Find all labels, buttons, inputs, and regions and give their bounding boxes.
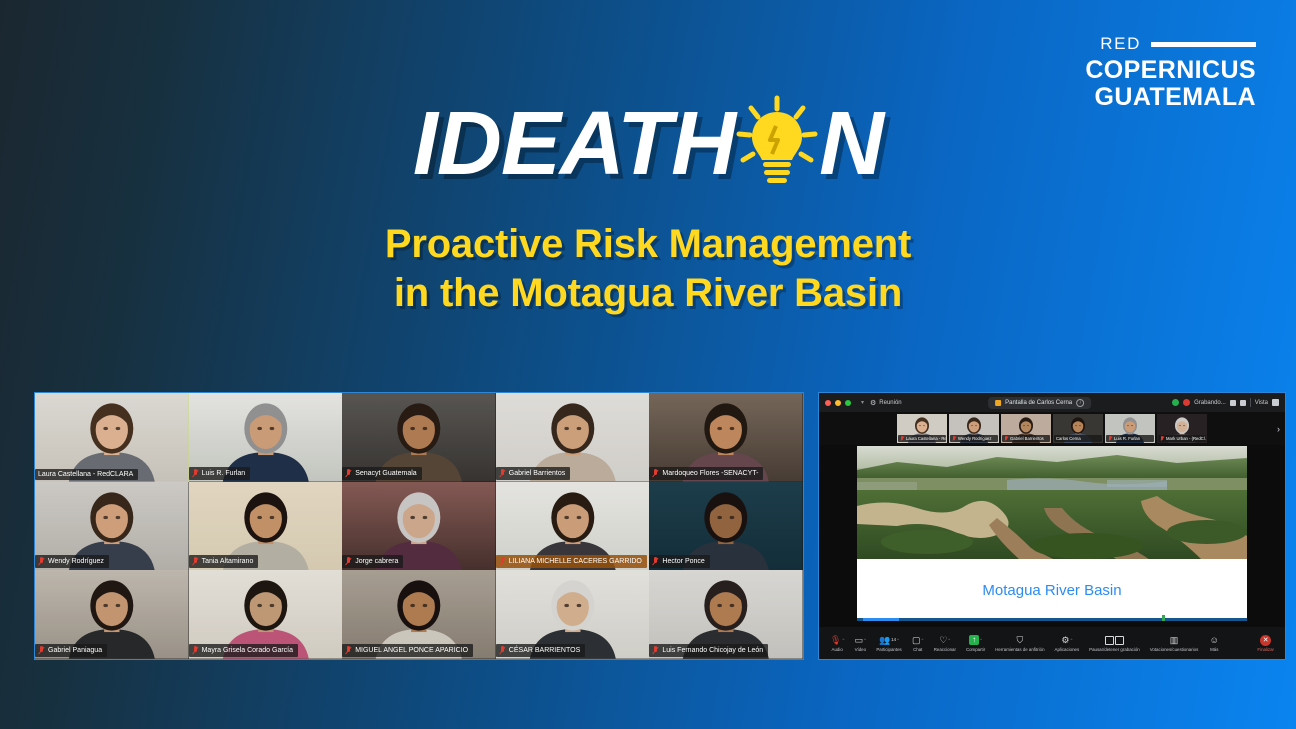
participants-icon: 👥14^ (879, 635, 899, 646)
aerial-river-basin-photo (857, 446, 1247, 559)
polls-icon: ▥ (1170, 635, 1179, 646)
zoom-meeting-window: ▾ ⚙ Reunión Pantalla de Carlos Cerna i G… (818, 392, 1286, 660)
toolbar-button-pausar-detener-grabaci-n[interactable]: Pausar/detener grabación (1084, 635, 1145, 652)
brand-rule (1151, 42, 1256, 47)
chevron-up-icon[interactable]: ^ (922, 638, 924, 642)
video-tile[interactable]: Gabriel Barrientos (496, 393, 650, 482)
page-subtitle-line-2: in the Motagua River Basin (0, 269, 1296, 318)
filmstrip-name-badge: Wendy Rodríguez (950, 435, 998, 442)
video-tile[interactable]: Luis R. Furlan (189, 393, 343, 482)
participant-name-badge: Hector Ponce (649, 555, 709, 568)
participant-filmstrip[interactable]: Laura Castellana - Re...Wendy RodríguezG… (819, 412, 1285, 445)
filmstrip-participant-name: Wendy Rodríguez (958, 436, 991, 441)
filmstrip-tile[interactable]: Carlos Cerna (1053, 414, 1103, 443)
participant-name: Luis R. Furlan (202, 470, 246, 477)
microphone-muted-icon (192, 646, 199, 655)
recording-label: Grabando... (1194, 400, 1226, 406)
participant-name: Tania Altamirano (202, 558, 254, 565)
microphone-muted-icon (900, 436, 904, 441)
page-title-after: N (819, 99, 883, 189)
shared-slide: Motagua River Basin (857, 446, 1247, 621)
toolbar-button-chat[interactable]: ▢^Chat (907, 635, 929, 652)
titlebar-right-group: Grabando... Vista (1172, 398, 1279, 407)
toolbar-button-reaccionar[interactable]: ♡^Reaccionar (929, 635, 961, 652)
chevron-up-icon[interactable]: ^ (864, 638, 866, 642)
page-subtitle: Proactive Risk Management in the Motagua… (0, 220, 1296, 318)
shared-screen-area: Motagua River Basin (819, 445, 1285, 627)
maximize-icon[interactable] (845, 400, 851, 406)
microphone-muted-icon (499, 557, 506, 566)
participant-name: Mayra Grisela Corado García (202, 647, 293, 654)
participant-name: CÉSAR BARRIENTOS (509, 647, 580, 654)
participant-name-badge: LILIANA MICHELLE CACERES GARRIDO (496, 555, 647, 568)
end-meeting-button[interactable]: ✕Finalizar (1252, 635, 1279, 652)
microphone-muted-icon (652, 646, 659, 655)
participant-name-badge: Gabriel Paniagua (35, 644, 107, 657)
toolbar-button-label: Pausar/detener grabación (1089, 647, 1140, 652)
minimize-icon[interactable] (835, 400, 841, 406)
participant-name: Wendy Rodríguez (48, 558, 104, 565)
microphone-muted-icon (652, 469, 659, 478)
filmstrip-participant-name: Carlos Cerna (1056, 436, 1081, 441)
video-tile[interactable]: Senacyt Guatemala (342, 393, 496, 482)
chevron-down-icon[interactable]: ▾ (861, 399, 864, 406)
chevron-up-icon[interactable]: ^ (980, 638, 982, 642)
participant-name: Laura Castellana - RedCLARA (38, 471, 133, 478)
filmstrip-tile[interactable]: Wendy Rodríguez (949, 414, 999, 443)
participant-name-badge: MIGUEL ANGEL PONCE APARICIO (342, 644, 473, 657)
camera-icon: ▭^ (855, 635, 866, 646)
microphone-muted-icon (38, 646, 45, 655)
slide-marker (1162, 615, 1165, 621)
share-tab-label: Pantalla de Carlos Cerna (1005, 400, 1072, 406)
video-tile[interactable]: Wendy Rodríguez (35, 482, 189, 571)
toolbar-button-m-s[interactable]: ☺Más (1203, 635, 1225, 652)
screen-share-icon (995, 400, 1001, 406)
microphone-muted-icon (1160, 436, 1164, 441)
filmstrip-participant-name: Gabriel Barrientos (1010, 436, 1044, 441)
participant-name-badge: CÉSAR BARRIENTOS (496, 644, 585, 657)
microphone-muted-icon (345, 646, 352, 655)
toolbar-button-label: Audio (832, 647, 843, 652)
toolbar-button-label: Vídeo (855, 647, 866, 652)
video-tile[interactable]: Mayra Grisela Corado García (189, 570, 343, 659)
toolbar-button-herramientas-de-anfitri-n[interactable]: ⛉Herramientas de anfitrión (990, 635, 1049, 652)
filmstrip-tile[interactable]: Luis R. Furlan (1105, 414, 1155, 443)
filmstrip-name-badge: Carlos Cerna (1054, 435, 1102, 442)
participant-name: LILIANA MICHELLE CACERES GARRIDO (509, 558, 642, 565)
app-title: Reunión (879, 400, 901, 406)
chevron-right-icon[interactable]: › (1277, 424, 1280, 434)
view-label: Vista (1255, 400, 1268, 406)
toolbar-button-label: Más (1210, 647, 1218, 652)
microphone-muted-icon (1108, 436, 1112, 441)
video-tile[interactable]: MIGUEL ANGEL PONCE APARICIO (342, 570, 496, 659)
participant-name: Mardoqueo Flores -SENACYT- (662, 470, 758, 477)
video-tile[interactable]: LILIANA MICHELLE CACERES GARRIDO (496, 482, 650, 571)
participant-name-badge: Tania Altamirano (189, 555, 259, 568)
info-icon[interactable]: i (1076, 399, 1084, 407)
end-meeting-label: Finalizar (1257, 647, 1274, 652)
microphone-muted-icon (1004, 436, 1008, 441)
video-tile[interactable]: Mardoqueo Flores -SENACYT- (649, 393, 803, 482)
page-subtitle-line-1: Proactive Risk Management (0, 220, 1296, 269)
participant-name: Jorge cabrera (355, 558, 398, 565)
host-tools-shield-icon: ⛉ (1016, 635, 1023, 646)
toolbar-button-label: Participantes (876, 647, 901, 652)
chevron-up-icon[interactable]: ^ (897, 638, 899, 642)
participants-count-badge: 14 (891, 638, 896, 643)
hero-title-block: IDEATH (0, 96, 1296, 318)
chat-bubble-icon: ▢^ (912, 635, 923, 646)
brand-line-1: COPERNICUS (1085, 57, 1256, 84)
microphone-muted-icon (192, 557, 199, 566)
toolbar-button-votaciones-cuestionarios[interactable]: ▥Votaciones/cuestionarios (1145, 635, 1204, 652)
video-tile[interactable]: Hector Ponce (649, 482, 803, 571)
toolbar-button-aplicaciones[interactable]: ⚙^Aplicaciones (1050, 635, 1085, 652)
brand-red-row: RED (1085, 34, 1256, 54)
slide-canvas: RED COPERNICUS GUATEMALA IDEATH (0, 0, 1296, 729)
filmstrip-name-badge: Mark Urban - (RedCl... (1158, 435, 1206, 442)
microphone-muted-icon (192, 469, 199, 478)
microphone-muted-icon: 🎙^ (830, 635, 844, 646)
microphone-muted-icon (499, 469, 506, 478)
toolbar-button-label: Aplicaciones (1055, 647, 1080, 652)
recording-indicator-icon (1183, 399, 1190, 406)
video-tile[interactable]: Tania Altamirano (189, 482, 343, 571)
microphone-muted-icon (499, 646, 506, 655)
video-tile[interactable]: Jorge cabrera (342, 482, 496, 571)
slide-title: Motagua River Basin (857, 559, 1247, 621)
pause-recording-button[interactable] (1230, 400, 1236, 406)
filmstrip-name-badge: Gabriel Barrientos (1002, 435, 1050, 442)
more-icon: ☺ (1210, 635, 1219, 646)
participant-name: MIGUEL ANGEL PONCE APARICIO (355, 647, 468, 654)
video-tile[interactable]: Luis Fernando Chicojay de León (649, 570, 803, 659)
filmstrip-name-badge: Laura Castellana - Re... (898, 435, 946, 442)
stop-recording-button[interactable] (1240, 400, 1246, 406)
window-titlebar: ▾ ⚙ Reunión Pantalla de Carlos Cerna i G… (819, 393, 1285, 412)
microphone-muted-icon (345, 469, 352, 478)
meeting-toolbar[interactable]: 🎙^Audio▭^Vídeo👥14^Participantes▢^Chat♡^R… (819, 627, 1285, 659)
end-call-icon: ✕ (1260, 635, 1271, 646)
app-title-group: ⚙ Reunión (870, 399, 902, 407)
participant-name: Gabriel Barrientos (509, 470, 565, 477)
participant-name: Gabriel Paniagua (48, 647, 102, 654)
filmstrip-participant-name: Laura Castellana - Re... (906, 436, 946, 441)
filmstrip-tile[interactable]: Laura Castellana - Re... (897, 414, 947, 443)
participant-name-badge: Mayra Grisela Corado García (189, 644, 298, 657)
participant-name-badge: Luis R. Furlan (189, 467, 251, 480)
grid-view-icon[interactable] (1272, 399, 1279, 406)
pause-stop-record-icon (1105, 635, 1124, 646)
page-title-before: IDEATH (413, 99, 735, 189)
filmstrip-participant-name: Mark Urban - (RedCl... (1166, 436, 1206, 441)
participant-name: Hector Ponce (662, 558, 704, 565)
toolbar-button-compartir[interactable]: ↑^Compartir (961, 635, 990, 652)
share-tab[interactable]: Pantalla de Carlos Cerna i (988, 397, 1091, 409)
chevron-up-icon[interactable]: ^ (948, 638, 950, 642)
toolbar-button-label: Votaciones/cuestionarios (1150, 647, 1199, 652)
zoom-logo-icon: ⚙ (870, 399, 876, 407)
network-status-icon (1172, 399, 1179, 406)
page-title: IDEATH (413, 96, 883, 192)
video-tile[interactable]: CÉSAR BARRIENTOS (496, 570, 650, 659)
apps-icon: ⚙^ (1061, 635, 1072, 646)
slide-progress-bar (857, 618, 1247, 621)
toolbar-button-label: Compartir (966, 647, 985, 652)
toolbar-button-label: Herramientas de anfitrión (995, 647, 1044, 652)
microphone-muted-icon (345, 557, 352, 566)
reaction-icon: ♡^ (939, 635, 950, 646)
gallery-view-screenshot: Laura Castellana - RedCLARALuis R. Furla… (34, 392, 804, 660)
share-screen-icon: ↑^ (969, 635, 982, 646)
microphone-muted-icon (38, 557, 45, 566)
participant-name-badge: Laura Castellana - RedCLARA (35, 469, 138, 480)
participant-name: Senacyt Guatemala (355, 470, 416, 477)
participant-name-badge: Mardoqueo Flores -SENACYT- (649, 467, 763, 480)
participant-name-badge: Senacyt Guatemala (342, 467, 421, 480)
traffic-lights[interactable] (825, 400, 851, 406)
filmstrip-tile[interactable]: Gabriel Barrientos (1001, 414, 1051, 443)
microphone-muted-icon (652, 557, 659, 566)
close-icon[interactable] (825, 400, 831, 406)
video-tile[interactable]: Gabriel Paniagua (35, 570, 189, 659)
filmstrip-name-badge: Luis R. Furlan (1106, 435, 1154, 442)
slide-progress-fill (863, 618, 899, 621)
participant-name-badge: Jorge cabrera (342, 555, 403, 568)
toolbar-button-participantes[interactable]: 👥14^Participantes (871, 635, 906, 652)
chevron-up-icon[interactable]: ^ (1070, 638, 1072, 642)
lightbulb-icon (731, 94, 823, 190)
filmstrip-participant-name: Luis R. Furlan (1114, 436, 1140, 441)
participant-name: Luis Fernando Chicojay de León (662, 647, 763, 654)
toolbar-button-label: Chat (913, 647, 922, 652)
participant-name-badge: Luis Fernando Chicojay de León (649, 644, 768, 657)
filmstrip-tile[interactable]: Mark Urban - (RedCl... (1157, 414, 1207, 443)
participant-name-badge: Wendy Rodríguez (35, 555, 109, 568)
microphone-muted-icon (952, 436, 956, 441)
toolbar-button-label: Reaccionar (934, 647, 956, 652)
brand-red-label: RED (1100, 34, 1141, 54)
participant-name-badge: Gabriel Barrientos (496, 467, 570, 480)
titlebar-divider (1250, 398, 1251, 407)
video-tile[interactable]: Laura Castellana - RedCLARA (35, 393, 189, 482)
toolbar-button-v-deo[interactable]: ▭^Vídeo (849, 635, 871, 652)
toolbar-button-audio[interactable]: 🎙^Audio (825, 635, 849, 652)
chevron-up-icon[interactable]: ^ (842, 638, 844, 642)
